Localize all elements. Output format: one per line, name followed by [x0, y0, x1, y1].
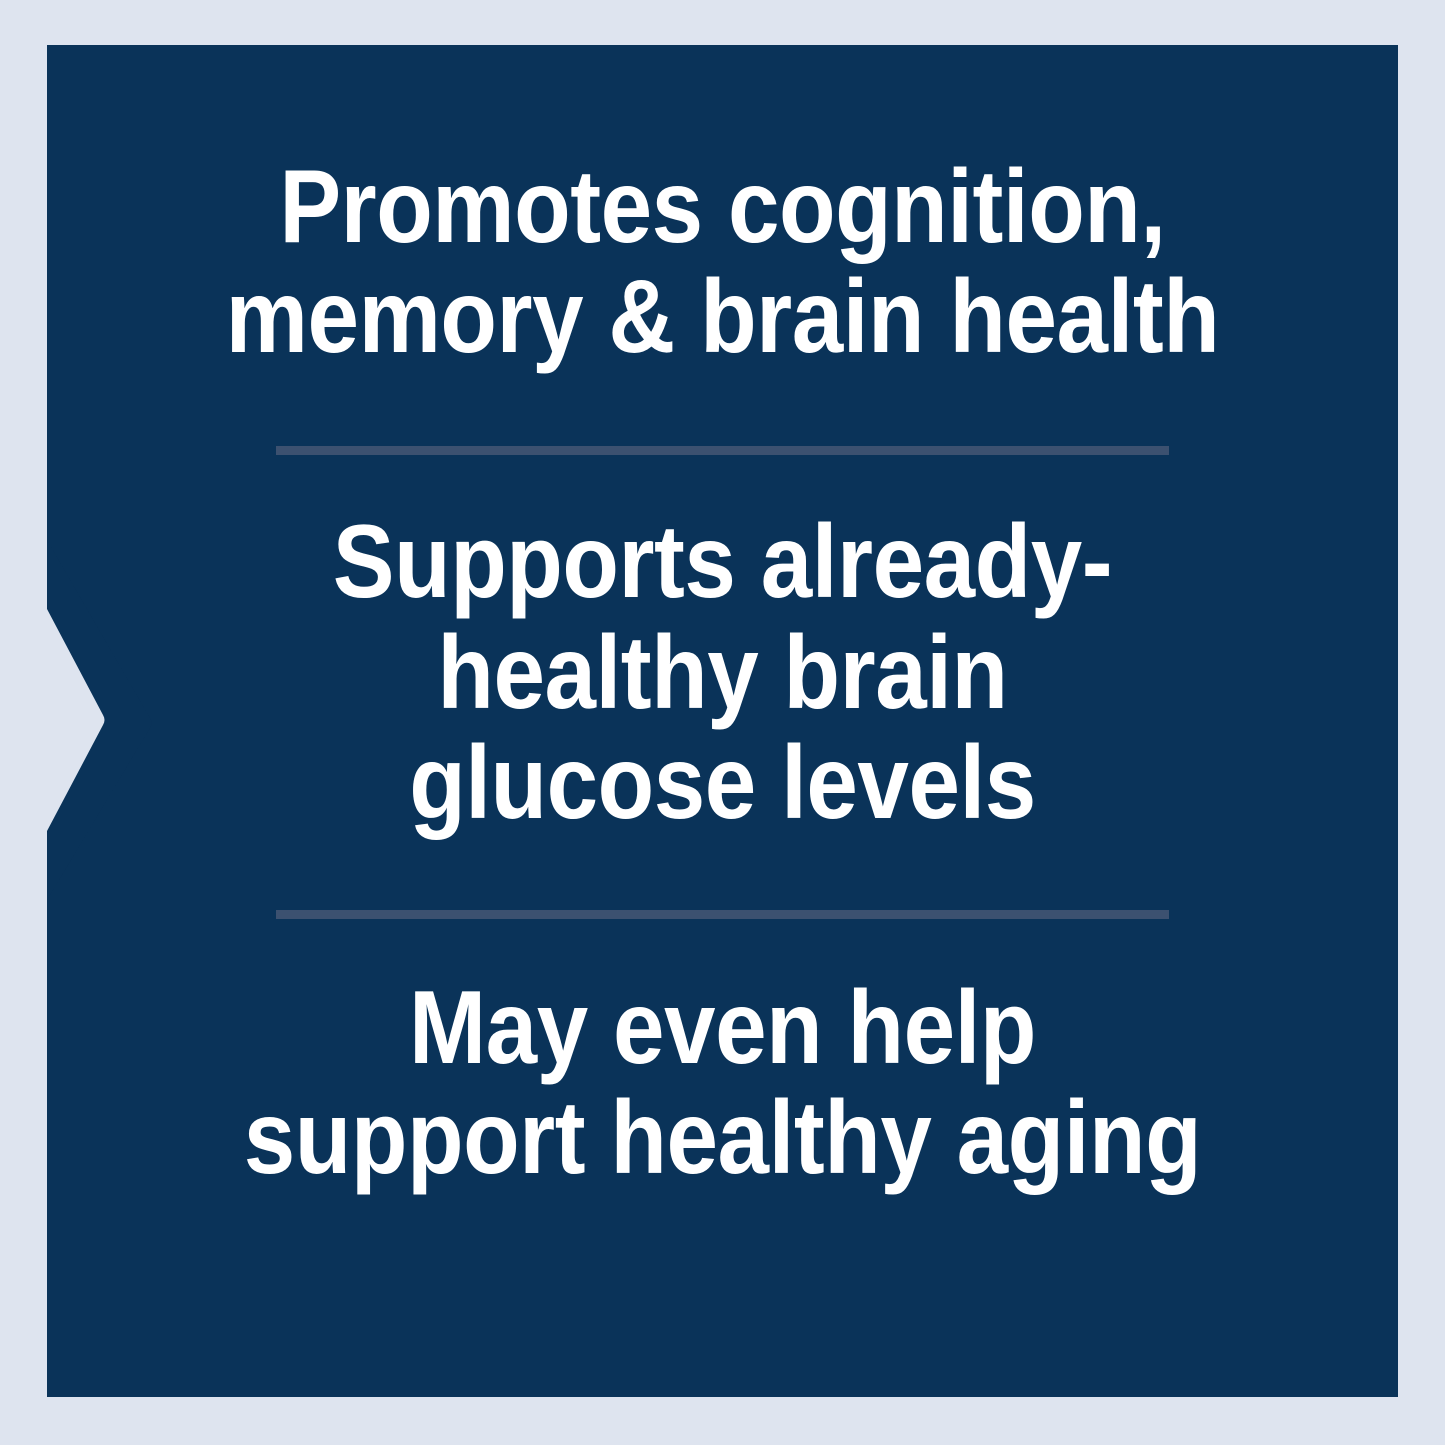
benefit-item-glucose: Supports already- healthy brain glucose …: [121, 507, 1323, 838]
product-benefits-graphic: Promotes cognition, memory & brain healt…: [0, 0, 1445, 1445]
benefit-item-aging: May even help support healthy aging: [121, 973, 1323, 1193]
benefit-divider-1: [276, 446, 1169, 455]
benefits-content: Promotes cognition, memory & brain healt…: [47, 45, 1398, 1397]
benefit-item-cognition: Promotes cognition, memory & brain healt…: [121, 152, 1323, 372]
benefit-divider-2: [276, 910, 1169, 919]
